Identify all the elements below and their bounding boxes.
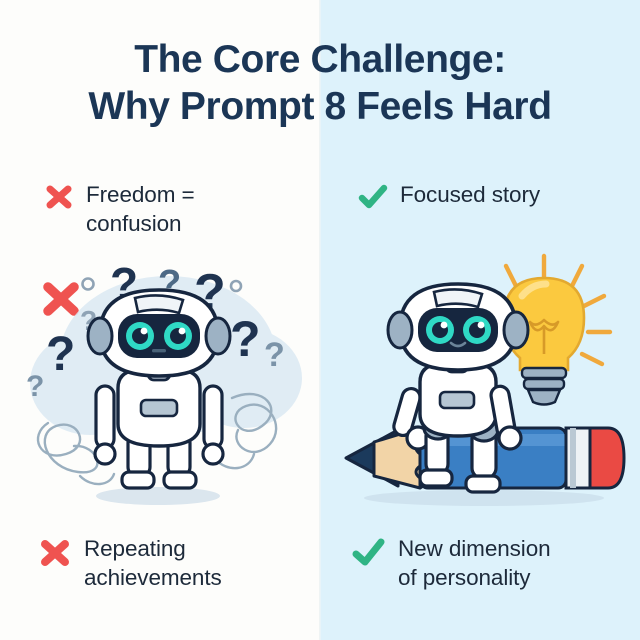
right-bottom-label-text: New dimension of personality <box>398 534 551 592</box>
check-icon <box>352 536 386 575</box>
svg-text:?: ? <box>46 328 75 381</box>
left-bottom-label-row: Repeating achievements <box>38 534 222 592</box>
right-bottom-label-row: New dimension of personality <box>352 534 551 592</box>
cross-icon <box>44 182 74 217</box>
left-top-label-row: Freedom = confusion <box>44 180 195 238</box>
svg-text:?: ? <box>264 336 285 374</box>
right-top-label-text: Focused story <box>400 180 540 209</box>
confused-robot-illustration: ? ? ? ? ? ? ? ? <box>18 248 310 510</box>
title-line-1: The Core Challenge: <box>134 38 506 81</box>
left-top-label-text: Freedom = confusion <box>86 180 195 238</box>
cross-icon <box>38 536 72 575</box>
robot-on-pencil-illustration <box>334 248 634 510</box>
infographic-canvas: The Core Challenge: Why Prompt 8 Feels H… <box>0 0 640 640</box>
check-icon <box>358 182 388 217</box>
svg-text:?: ? <box>26 370 44 403</box>
title-line-2: Why Prompt 8 Feels Hard <box>0 83 640 130</box>
left-bottom-label-text: Repeating achievements <box>84 534 222 592</box>
svg-text:?: ? <box>230 311 261 367</box>
page-title: The Core Challenge: Why Prompt 8 Feels H… <box>0 36 640 130</box>
robot-figure <box>88 290 230 505</box>
right-top-label-row: Focused story <box>358 180 540 217</box>
